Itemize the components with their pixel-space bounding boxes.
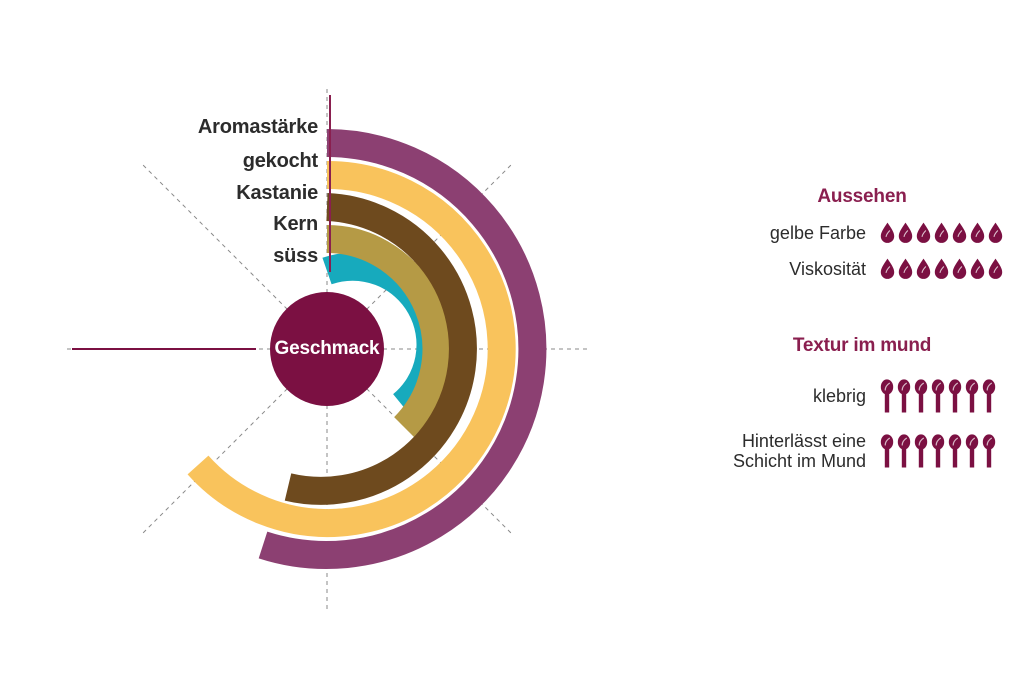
spoon-icon: [982, 379, 996, 413]
panel-textur-im-mund: Textur im mund klebrig Hinterlässt eine …: [700, 335, 1024, 471]
radial-sensory-chart: Aromastärke gekocht Kastanie Kern süss G…: [0, 0, 660, 697]
rating-icons-schicht-im-mund: [880, 434, 996, 468]
droplet-icon: [880, 258, 895, 280]
spoon-icon: [914, 379, 928, 413]
axis-label-aromastaerke: Aromastärke: [198, 116, 318, 139]
spoon-icon: [880, 379, 894, 413]
spoon-icon: [897, 379, 911, 413]
droplet-icon: [988, 258, 1003, 280]
rating-icons-gelbe-farbe: [880, 222, 1003, 244]
rating-row-viskositaet: Viskosität: [700, 258, 1024, 280]
rating-label-klebrig: klebrig: [700, 386, 880, 406]
axis-label-suess: süss: [273, 245, 318, 268]
droplet-icon: [988, 222, 1003, 244]
droplet-icon: [970, 258, 985, 280]
droplet-icon: [898, 222, 913, 244]
rating-label-gelbe-farbe: gelbe Farbe: [700, 223, 880, 243]
droplet-icon: [898, 258, 913, 280]
spoon-icon: [965, 379, 979, 413]
rating-row-klebrig: klebrig: [700, 379, 1024, 413]
axis-label-kastanie: Kastanie: [236, 182, 318, 205]
spoon-icon: [948, 379, 962, 413]
rating-label-schicht-im-mund: Hinterlässt eine Schicht im Mund: [700, 431, 880, 471]
rating-row-schicht-im-mund: Hinterlässt eine Schicht im Mund: [700, 431, 1024, 471]
spoon-icon: [897, 434, 911, 468]
rating-row-gelbe-farbe: gelbe Farbe: [700, 222, 1024, 244]
spoon-icon: [880, 434, 894, 468]
droplet-icon: [934, 222, 949, 244]
infographic-canvas: Aromastärke gekocht Kastanie Kern süss G…: [0, 0, 1024, 697]
droplet-icon: [952, 258, 967, 280]
droplet-icon: [880, 222, 895, 244]
droplet-icon: [952, 222, 967, 244]
spoon-icon: [965, 434, 979, 468]
droplet-icon: [916, 222, 931, 244]
rating-label-viskositaet: Viskosität: [700, 259, 880, 279]
droplet-icon: [934, 258, 949, 280]
spoon-icon: [931, 379, 945, 413]
rating-icons-viskositaet: [880, 258, 1003, 280]
center-hub-label: Geschmack: [267, 338, 387, 360]
axis-label-kern: Kern: [273, 213, 318, 236]
panel-title-aussehen: Aussehen: [700, 186, 1024, 208]
spoon-icon: [914, 434, 928, 468]
droplet-icon: [970, 222, 985, 244]
spoon-icon: [931, 434, 945, 468]
axis-label-group: Aromastärke gekocht Kastanie Kern süss: [0, 0, 318, 300]
panel-aussehen: Aussehen gelbe Farbe Viskosität: [700, 186, 1024, 280]
spoon-icon: [982, 434, 996, 468]
panel-title-textur: Textur im mund: [700, 335, 1024, 357]
legend-panels: Aussehen gelbe Farbe Viskosität: [700, 0, 1024, 697]
droplet-icon: [916, 258, 931, 280]
axis-label-gekocht: gekocht: [243, 150, 318, 173]
rating-icons-klebrig: [880, 379, 996, 413]
spoon-icon: [948, 434, 962, 468]
